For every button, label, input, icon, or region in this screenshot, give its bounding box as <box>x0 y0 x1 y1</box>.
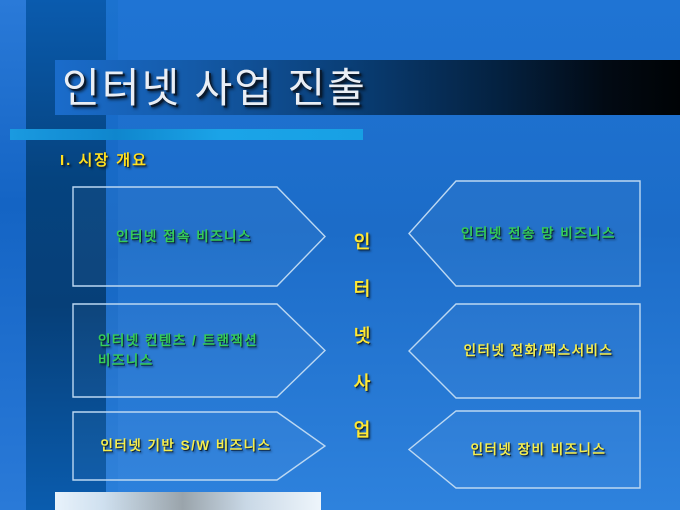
center-vertical-label: 인 터 넷 사 업 <box>342 233 382 439</box>
center-char-3: 넷 <box>354 327 371 345</box>
left-arrow-shape-2[interactable]: 인터넷 컨텐츠 / 트랜잭션 비즈니스 <box>72 303 326 398</box>
center-char-4: 사 <box>354 374 371 392</box>
section-heading: I. 시장 개요 <box>60 149 148 170</box>
left-arrow-label-3: 인터넷 기반 S/W 비즈니스 <box>72 436 326 456</box>
right-arrow-shape-1[interactable]: 인터넷 전송 망 비즈니스 <box>408 180 641 287</box>
accent-bar <box>10 129 363 140</box>
left-arrow-shape-3[interactable]: 인터넷 기반 S/W 비즈니스 <box>72 411 326 481</box>
right-arrow-label-1: 인터넷 전송 망 비즈니스 <box>408 224 641 244</box>
right-arrow-shape-2[interactable]: 인터넷 전화/팩스서비스 <box>408 303 641 399</box>
left-arrow-label-2: 인터넷 컨텐츠 / 트랜잭션 비즈니스 <box>72 331 258 370</box>
left-arrow-label-1: 인터넷 접속 비즈니스 <box>72 227 326 247</box>
slide-canvas: 인터넷 사업 진출 I. 시장 개요 인터넷 접속 비즈니스 인터넷 컨텐츠 /… <box>0 0 680 510</box>
right-arrow-label-3: 인터넷 장비 비즈니스 <box>408 440 641 460</box>
bottom-gradient-bar <box>55 492 321 510</box>
page-title: 인터넷 사업 진출 <box>62 60 622 116</box>
center-char-2: 터 <box>354 280 371 298</box>
left-band-outer <box>0 0 26 510</box>
right-arrow-label-2: 인터넷 전화/팩스서비스 <box>408 341 641 361</box>
left-arrow-shape-1[interactable]: 인터넷 접속 비즈니스 <box>72 186 326 287</box>
center-char-5: 업 <box>354 421 371 439</box>
right-arrow-shape-3[interactable]: 인터넷 장비 비즈니스 <box>408 410 641 489</box>
center-char-1: 인 <box>354 233 371 251</box>
